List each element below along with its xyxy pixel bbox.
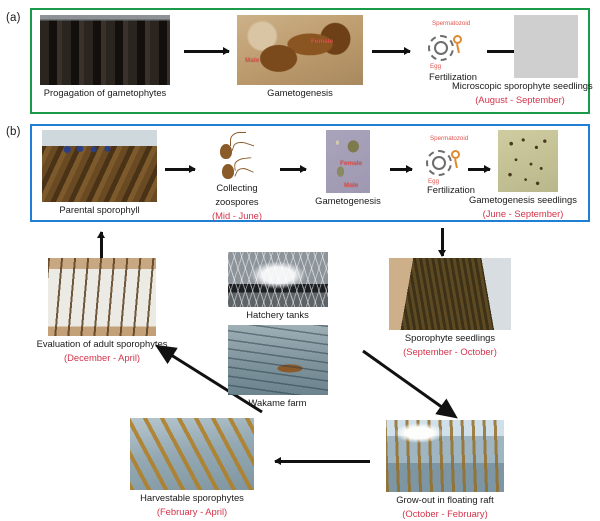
caption-sporophyte-seedlings: Sporophyte seedlings: [370, 332, 530, 344]
season-microscopic-seedlings: (August - September): [452, 94, 588, 106]
stage-evaluation-of-adult-sporophytes: Evaluation of adult sporophytes (Decembe…: [22, 258, 182, 364]
image-floating-raft: [386, 420, 504, 492]
image-gametogenesis-b: Female Male: [326, 130, 370, 193]
arrow-panelb-to-sporophyte-seedlings: [441, 228, 444, 256]
caption-gametogenesis-a: Gametogenesis: [237, 87, 363, 99]
panel-a: Progagation of gametophytes Male Female …: [30, 8, 590, 114]
zoospore-body-upper: [220, 144, 232, 159]
caption-wakame-farm: Wakame farm: [225, 397, 330, 409]
stage-hatchery-tanks: Hatchery tanks: [225, 252, 330, 321]
image-harvestable-sporophytes: [130, 418, 254, 490]
arrow-gametogenesis-to-fertilization-b: [390, 168, 412, 171]
zoospore-icon: [214, 132, 270, 184]
season-sporophyte-seedlings: (September - October): [370, 346, 530, 358]
label-egg-a: Egg: [430, 63, 441, 70]
caption-hatchery-tanks: Hatchery tanks: [225, 309, 330, 321]
image-gametogenesis-microscopy: Male Female: [237, 15, 363, 85]
image-hatchery-tanks: [228, 252, 328, 307]
zoospore-body-lower: [222, 164, 234, 179]
stage-harvestable-sporophytes: Harvestable sporophytes (February - Apri…: [112, 418, 272, 518]
arrow-gametogenesis-to-fertilization-a: [372, 50, 410, 53]
season-gametogenesis-seedlings: (June - September): [458, 208, 588, 220]
caption-harvestable: Harvestable sporophytes: [112, 492, 272, 504]
panel-a-tag: (a): [6, 12, 21, 24]
figure-canvas: (a) Progagation of gametophytes Male Fem…: [0, 0, 600, 521]
image-adult-sporophytes: [48, 258, 156, 336]
image-parental-sporophyll: [42, 130, 157, 202]
caption-evaluation: Evaluation of adult sporophytes: [22, 338, 182, 350]
image-wakame-farm: [228, 325, 328, 395]
stage-gametogenesis-b: Female Male Gametogenesis: [310, 130, 386, 207]
stage-grow-out-in-floating-raft: Grow-out in floating raft (October - Feb…: [365, 420, 525, 520]
caption-grow-out: Grow-out in floating raft: [365, 494, 525, 506]
image-microscopic-sporophyte-seedlings: [514, 15, 578, 78]
overlay-label-female: Female: [311, 38, 333, 45]
egg-nucleus-b: [432, 156, 446, 170]
caption-gametogenesis-b: Gametogenesis: [310, 195, 386, 207]
image-gametogenesis-seedlings: [498, 130, 558, 192]
stage-wakame-farm: Wakame farm: [225, 325, 330, 409]
zoospore-flagellum-2: [232, 139, 255, 157]
stage-microscopic-sporophyte-seedlings: Microscopic sporophyte seedlings (August…: [452, 15, 588, 106]
image-gametophyte-flasks: [40, 15, 170, 85]
overlay-label-male: Male: [245, 57, 259, 64]
stage-gametogenesis-seedlings: Gametogenesis seedlings (June - Septembe…: [458, 130, 588, 220]
egg-nucleus: [434, 41, 448, 55]
stage-parental-sporophyll: Parental sporophyll: [42, 130, 157, 216]
caption-collecting-line2: zoospores: [200, 196, 274, 208]
overlay-label-female-b: Female: [340, 160, 362, 167]
caption-gametogenesis-seedlings: Gametogenesis seedlings: [458, 194, 588, 206]
season-grow-out: (October - February): [365, 508, 525, 520]
label-egg-b: Egg: [428, 178, 439, 185]
arrow-zoospores-to-gametogenesis: [280, 168, 306, 171]
panel-b-tag: (b): [6, 126, 21, 138]
stage-sporophyte-seedlings: Sporophyte seedlings (September - Octobe…: [370, 258, 530, 358]
caption-propagation: Progagation of gametophytes: [40, 87, 170, 99]
caption-microscopic-seedlings: Microscopic sporophyte seedlings: [452, 80, 588, 92]
stage-collecting-zoospores: Collecting zoospores (Mid - June): [200, 130, 274, 221]
caption-parental-sporophyll: Parental sporophyll: [42, 204, 157, 216]
panel-b: Parental sporophyll Collecting zoospores…: [30, 124, 590, 222]
arrow-sporophyll-to-zoospores: [165, 168, 195, 171]
stage-gametogenesis-a: Male Female Gametogenesis: [237, 15, 363, 99]
arrow-propagation-to-gametogenesis: [184, 50, 229, 53]
overlay-label-male-b: Male: [344, 182, 358, 189]
egg-icon-a: [428, 35, 454, 61]
season-collecting-zoospores: (Mid - June): [200, 210, 274, 222]
arrow-growout-to-harvestable: [275, 460, 370, 463]
season-harvestable: (February - April): [112, 506, 272, 518]
stage-propagation-of-gametophytes: Progagation of gametophytes: [40, 15, 170, 99]
arrow-evaluation-to-parental-sporophyll: [100, 232, 103, 258]
egg-icon-b: [426, 150, 452, 176]
season-evaluation: (December - April): [22, 352, 182, 364]
image-sporophyte-seedlings: [389, 258, 511, 330]
